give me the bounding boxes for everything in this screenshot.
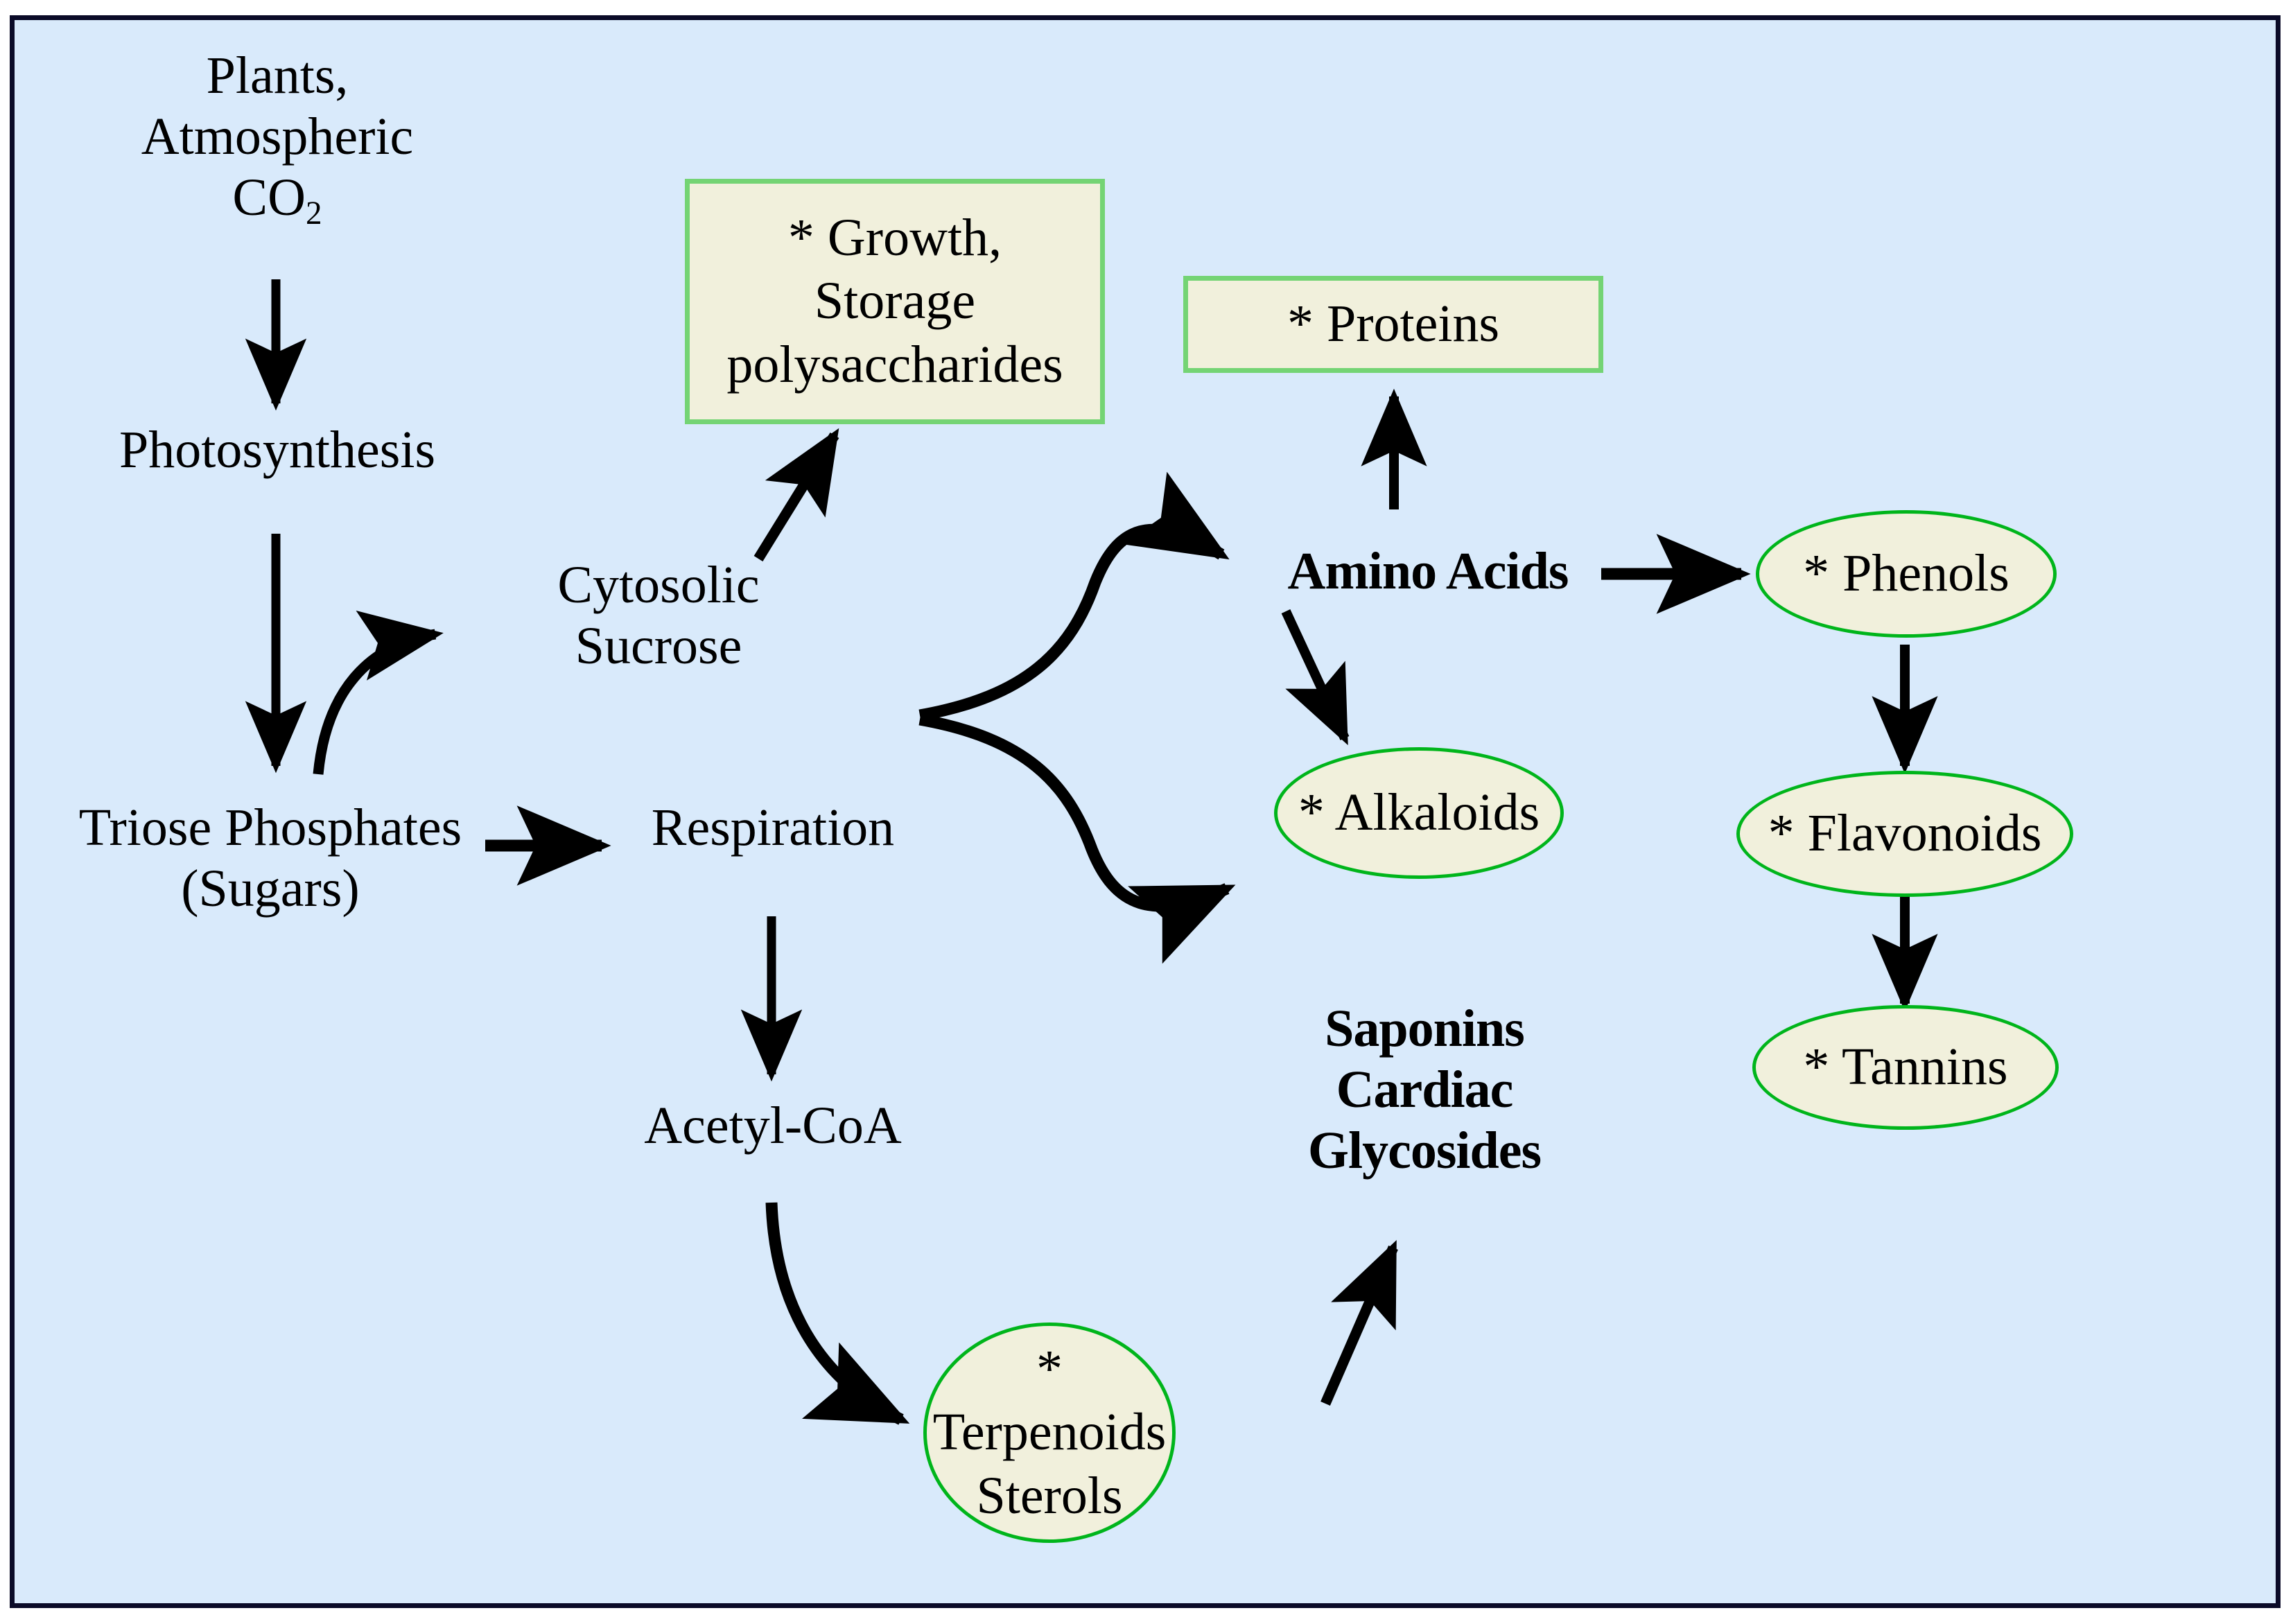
ellipse-flavonoids[interactable]: * Flavonoids: [1736, 771, 2073, 897]
node-saponins-cardiac-glycosides: Saponins Cardiac Glycosides: [1241, 998, 1608, 1181]
node-triose-phosphates: Triose Phosphates (Sugars): [49, 797, 492, 919]
node-acetyl-coa: Acetyl-CoA: [607, 1095, 939, 1156]
ellipse-tannins[interactable]: * Tannins: [1752, 1005, 2059, 1130]
box-growth-storage-polysaccharides[interactable]: * Growth, Storage polysaccharides: [685, 179, 1105, 424]
node-cytosolic-sucrose: Cytosolic Sucrose: [527, 555, 790, 676]
node-respiration: Respiration: [607, 797, 939, 858]
ellipse-terpenoids-sterols[interactable]: * Terpenoids Sterols: [923, 1322, 1176, 1543]
node-plants-co2-label: Plants, Atmospheric CO: [141, 46, 414, 227]
node-amino-acids: Amino Acids: [1244, 541, 1612, 602]
diagram-canvas: Plants, Atmospheric CO2 Photosynthesis T…: [0, 0, 2293, 1624]
node-photosynthesis: Photosynthesis: [90, 419, 464, 480]
co2-subscript: 2: [306, 196, 322, 232]
box-proteins[interactable]: * Proteins: [1183, 276, 1603, 373]
ellipse-phenols[interactable]: * Phenols: [1756, 510, 2057, 638]
node-plants-atmospheric-co2: Plants, Atmospheric CO2: [125, 45, 430, 233]
ellipse-alkaloids[interactable]: * Alkaloids: [1274, 747, 1564, 879]
